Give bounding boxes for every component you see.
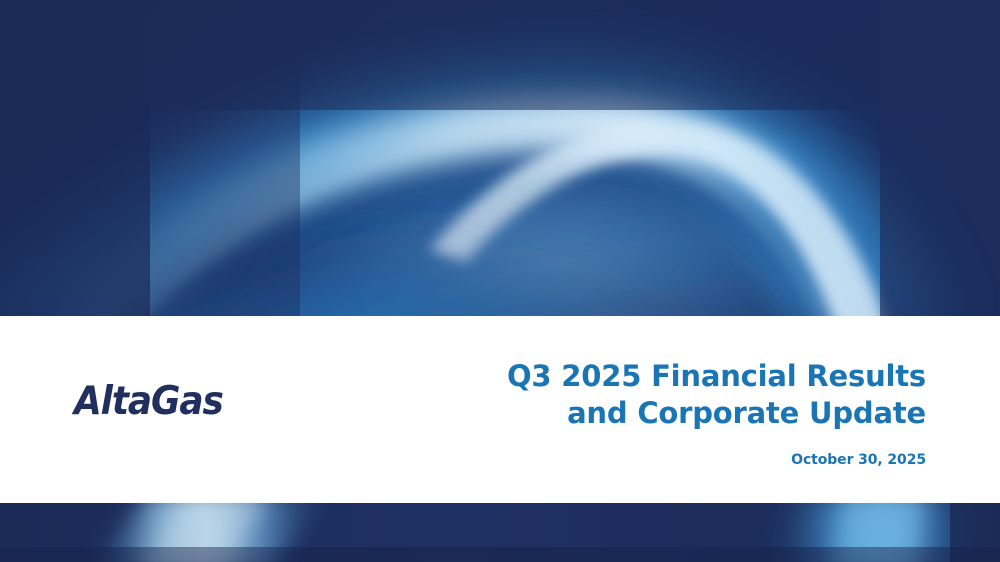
title-slide: AltaGas Q3 2025 Financial Results and Co…: [0, 0, 1000, 562]
wave-arc-svg: [0, 0, 1000, 316]
page-title-line-1: Q3 2025 Financial Results: [306, 358, 926, 395]
footer-wave-graphic: [0, 503, 1000, 562]
title-block: Q3 2025 Financial Results and Corporate …: [306, 358, 926, 470]
banner-wave-graphic: [0, 0, 1000, 316]
page-title-line-2: and Corporate Update: [306, 395, 926, 432]
presentation-date: October 30, 2025: [306, 450, 926, 470]
content-band: AltaGas Q3 2025 Financial Results and Co…: [0, 316, 1000, 503]
footer-streaks-svg: [0, 503, 1000, 562]
